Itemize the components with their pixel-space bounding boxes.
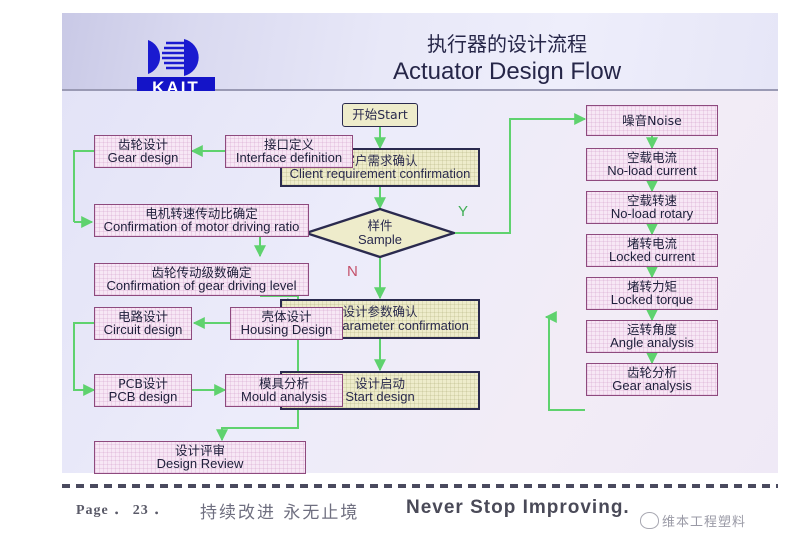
- node-motor-ratio-en: Confirmation of motor driving ratio: [104, 220, 300, 234]
- node-sample-text: 样件 Sample: [305, 208, 455, 258]
- node-circuit-en: Circuit design: [104, 323, 183, 337]
- watermark-text: 维本工程塑料: [662, 511, 746, 530]
- node-startdesign-cn: 设计启动: [355, 377, 405, 391]
- node-angle-en: Angle analysis: [610, 336, 694, 350]
- node-gear-analysis-en: Gear analysis: [612, 379, 691, 393]
- node-motor-ratio-cn: 电机转速传动比确定: [145, 207, 258, 221]
- node-interface-definition[interactable]: 接口定义 Interface definition: [225, 135, 353, 168]
- node-noload-rotary-en: No-load rotary: [611, 207, 693, 221]
- node-circuit-design[interactable]: 电路设计 Circuit design: [94, 307, 192, 340]
- footer-divider: [62, 484, 778, 488]
- wire-gearanalysis-to-param: [546, 317, 585, 410]
- node-start-cn: 开始Start: [352, 108, 408, 122]
- node-pcb-cn: PCB设计: [118, 377, 168, 391]
- node-noload-rotary-cn: 空载转速: [627, 194, 677, 208]
- node-pcb-en: PCB design: [109, 390, 178, 404]
- wire-geardesign-down: [74, 151, 94, 222]
- node-sample-decision[interactable]: 样件 Sample: [305, 208, 455, 258]
- node-locked-current-cn: 堵转电流: [627, 237, 677, 251]
- kait-logo-icon: [140, 37, 214, 77]
- node-locked-torque-en: Locked torque: [611, 293, 693, 307]
- node-motor-driving-ratio[interactable]: 电机转速传动比确定 Confirmation of motor driving …: [94, 204, 309, 237]
- node-client-en: Client requirement confirmation: [290, 167, 471, 181]
- node-noload-current-en: No-load current: [607, 164, 697, 178]
- node-review-en: Design Review: [157, 457, 244, 471]
- flowchart-canvas: 开始Start 客户需求确认 Client requirement confir…: [62, 91, 778, 473]
- slide-header: KAIT 执行器的设计流程 Actuator Design Flow: [62, 13, 778, 91]
- node-gear-design[interactable]: 齿轮设计 Gear design: [94, 135, 192, 168]
- node-param-cn: 设计参数确认: [342, 305, 417, 319]
- node-sample-cn: 样件: [367, 219, 392, 233]
- node-mould-en: Mould analysis: [241, 390, 327, 404]
- node-housing-cn: 壳体设计: [261, 310, 311, 324]
- slide-footer: Page ． 23 ． 持续改进 永无止境 Never Stop Improvi…: [62, 493, 778, 533]
- wire-circuit-to-pcb: [74, 323, 94, 390]
- motto-english: Never Stop Improving.: [406, 497, 630, 519]
- title-chinese: 执行器的设计流程: [282, 31, 732, 57]
- node-housing-en: Housing Design: [241, 323, 333, 337]
- branch-label-no: N: [347, 263, 358, 280]
- node-start[interactable]: 开始Start: [342, 103, 418, 127]
- node-mould-analysis[interactable]: 模具分析 Mould analysis: [225, 374, 343, 407]
- node-housing-design[interactable]: 壳体设计 Housing Design: [230, 307, 343, 340]
- node-review-cn: 设计评审: [175, 444, 225, 458]
- node-angle-cn: 运转角度: [627, 323, 677, 337]
- node-pcb-design[interactable]: PCB设计 PCB design: [94, 374, 192, 407]
- node-noise[interactable]: 噪音Noise: [586, 105, 718, 136]
- node-interface-en: Interface definition: [236, 151, 342, 165]
- watermark-icon: [640, 512, 659, 529]
- node-gear-level-cn: 齿轮传动级数确定: [151, 266, 251, 280]
- node-locked-current[interactable]: 堵转电流 Locked current: [586, 234, 718, 267]
- node-no-load-rotary[interactable]: 空载转速 No-load rotary: [586, 191, 718, 224]
- node-angle-analysis[interactable]: 运转角度 Angle analysis: [586, 320, 718, 353]
- page-number: Page ． 23 ．: [76, 499, 168, 519]
- node-gear-driving-level[interactable]: 齿轮传动级数确定 Confirmation of gear driving le…: [94, 263, 309, 296]
- node-locked-current-en: Locked current: [609, 250, 695, 264]
- node-locked-torque[interactable]: 堵转力矩 Locked torque: [586, 277, 718, 310]
- motto-chinese: 持续改进 永无止境: [200, 498, 359, 523]
- title-english: Actuator Design Flow: [282, 57, 732, 87]
- node-noload-current-cn: 空载电流: [627, 151, 677, 165]
- node-no-load-current[interactable]: 空载电流 No-load current: [586, 148, 718, 181]
- node-mould-cn: 模具分析: [259, 377, 309, 391]
- node-interface-cn: 接口定义: [264, 138, 314, 152]
- node-gear-design-cn: 齿轮设计: [118, 138, 168, 152]
- node-client-cn: 客户需求确认: [342, 154, 417, 168]
- branch-label-yes: Y: [458, 203, 468, 220]
- node-gear-design-en: Gear design: [108, 151, 179, 165]
- node-gear-analysis-cn: 齿轮分析: [627, 366, 677, 380]
- node-circuit-cn: 电路设计: [118, 310, 168, 324]
- node-noise-cn: 噪音Noise: [622, 114, 682, 128]
- node-startdesign-en: Start design: [345, 390, 414, 404]
- node-sample-en: Sample: [358, 233, 402, 247]
- node-locked-torque-cn: 堵转力矩: [627, 280, 677, 294]
- slide-title: 执行器的设计流程 Actuator Design Flow: [282, 31, 732, 87]
- node-design-review[interactable]: 设计评审 Design Review: [94, 441, 306, 474]
- wire-mould-to-review: [222, 410, 298, 440]
- node-gear-level-en: Confirmation of gear driving level: [106, 279, 296, 293]
- node-gear-analysis[interactable]: 齿轮分析 Gear analysis: [586, 363, 718, 396]
- slide-canvas: KAIT 执行器的设计流程 Actuator Design Flow: [0, 0, 792, 560]
- kait-logo: KAIT: [134, 37, 220, 99]
